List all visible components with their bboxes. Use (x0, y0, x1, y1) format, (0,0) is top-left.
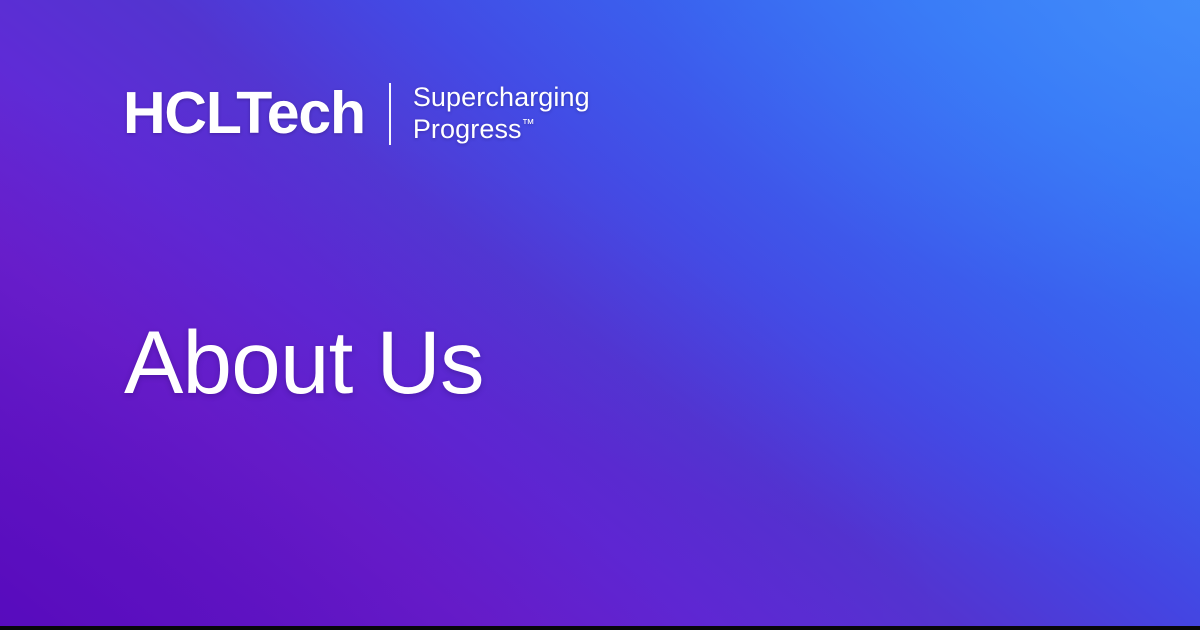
hcltech-wordmark: HCLTech (123, 84, 365, 143)
trademark-icon: ™ (522, 116, 535, 131)
hcltech-logo-lockup[interactable]: HCLTech Supercharging Progress™ (123, 82, 590, 146)
hero-banner: HCLTech Supercharging Progress™ About Us (0, 0, 1200, 630)
tagline-line-2-text: Progress (413, 114, 522, 144)
tagline-line-2: Progress™ (413, 114, 590, 146)
brand-tagline: Supercharging Progress™ (413, 82, 590, 146)
page-title: About Us (124, 318, 484, 407)
tagline-line-1: Supercharging (413, 82, 590, 112)
bottom-edge-strip (0, 626, 1200, 630)
logo-divider (389, 83, 391, 145)
